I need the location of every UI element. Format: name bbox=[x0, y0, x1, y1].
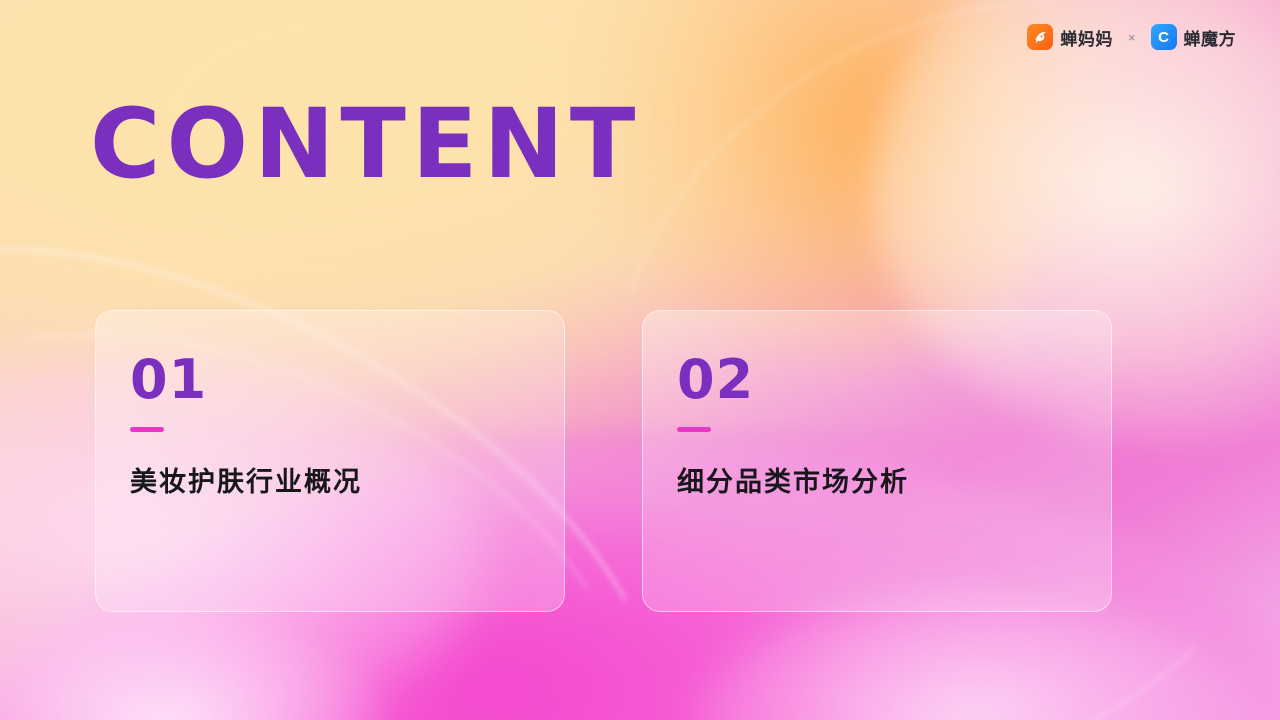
chanmofang-logo-icon: C bbox=[1151, 24, 1177, 50]
section-number: 01 bbox=[130, 353, 530, 407]
secondary-logo: C 蝉魔方 bbox=[1151, 24, 1237, 50]
chanmama-logo-icon bbox=[1027, 24, 1053, 50]
primary-logo-text: 蝉妈妈 bbox=[1060, 25, 1113, 50]
logo-bar: 蝉妈妈 × C 蝉魔方 bbox=[1027, 24, 1236, 50]
secondary-logo-text: 蝉魔方 bbox=[1184, 25, 1237, 50]
page-title: CONTENT bbox=[90, 96, 641, 192]
section-divider bbox=[677, 427, 711, 432]
section-number: 02 bbox=[677, 353, 1077, 407]
section-card-list: 01 美妆护肤行业概况 02 细分品类市场分析 bbox=[95, 310, 1112, 612]
chanmofang-logo-glyph: C bbox=[1158, 29, 1169, 46]
section-label: 细分品类市场分析 bbox=[677, 460, 1077, 499]
section-card-01[interactable]: 01 美妆护肤行业概况 bbox=[95, 310, 565, 612]
section-divider bbox=[130, 427, 164, 432]
logo-separator: × bbox=[1128, 30, 1136, 45]
slide-root: 蝉妈妈 × C 蝉魔方 CONTENT 01 美妆护肤行业概况 02 细分品类市… bbox=[0, 0, 1280, 720]
section-card-02[interactable]: 02 细分品类市场分析 bbox=[642, 310, 1112, 612]
section-label: 美妆护肤行业概况 bbox=[130, 460, 530, 499]
primary-logo: 蝉妈妈 bbox=[1027, 24, 1113, 50]
